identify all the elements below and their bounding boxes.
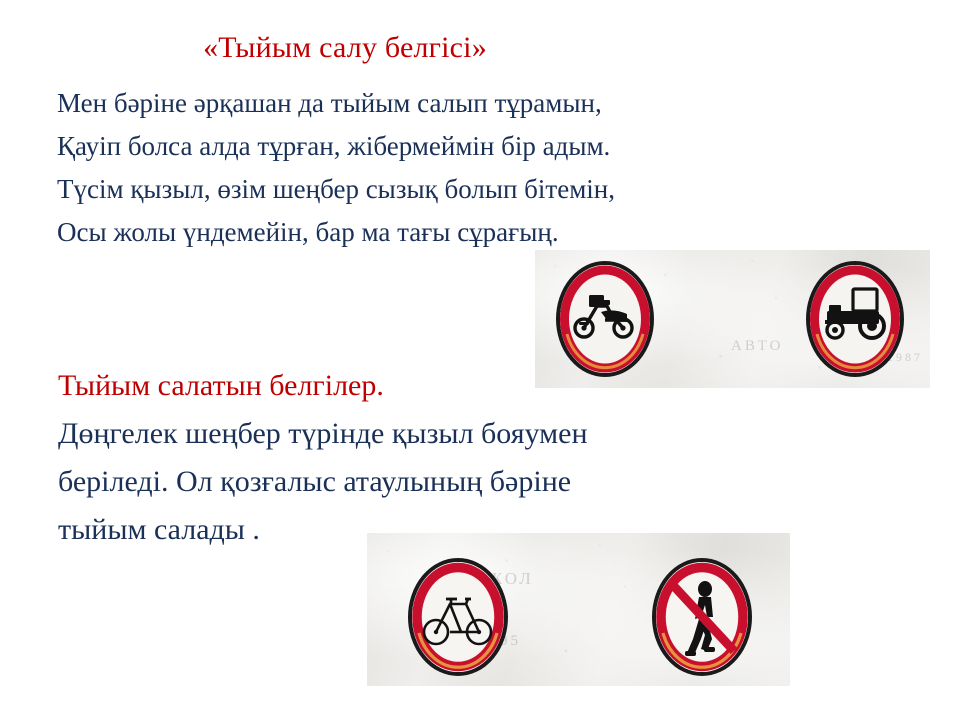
description-line: беріледі. Ол қозғалыс атаулының бәріне: [58, 458, 718, 506]
poem-block: Мен бәріне әрқашан да тыйым салып тұрамы…: [57, 82, 877, 254]
poem-line: Осы жолы үндемейін, бар ма тағы сұрағың.: [57, 211, 877, 254]
prohibition-signs-photo-top: АВТО 1987: [535, 250, 930, 388]
page-title: «Тыйым салу белгісі»: [0, 30, 960, 66]
slide-canvas: «Тыйым салу белгісі» Мен бәріне әрқашан …: [0, 0, 960, 720]
description-line: Дөңгелек шеңбер түрінде қызыл бояумен: [58, 410, 718, 458]
no-tractors-sign: [803, 258, 907, 380]
ghost-text: АВТО: [731, 338, 783, 355]
no-pedestrians-sign: [649, 555, 755, 679]
no-mopeds-sign: [553, 258, 657, 380]
poem-line: Түсім қызыл, өзім шеңбер сызық болып біт…: [57, 168, 877, 211]
no-bicycles-sign: [405, 555, 511, 679]
prohibition-signs-photo-bottom: ЖОЛ 1995: [367, 533, 790, 686]
poem-line: Мен бәріне әрқашан да тыйым салып тұрамы…: [57, 82, 877, 125]
description-block: Тыйым салатын белгілер. Дөңгелек шеңбер …: [58, 362, 718, 554]
poem-line: Қауіп болса алда тұрған, жібермеймін бір…: [57, 125, 877, 168]
